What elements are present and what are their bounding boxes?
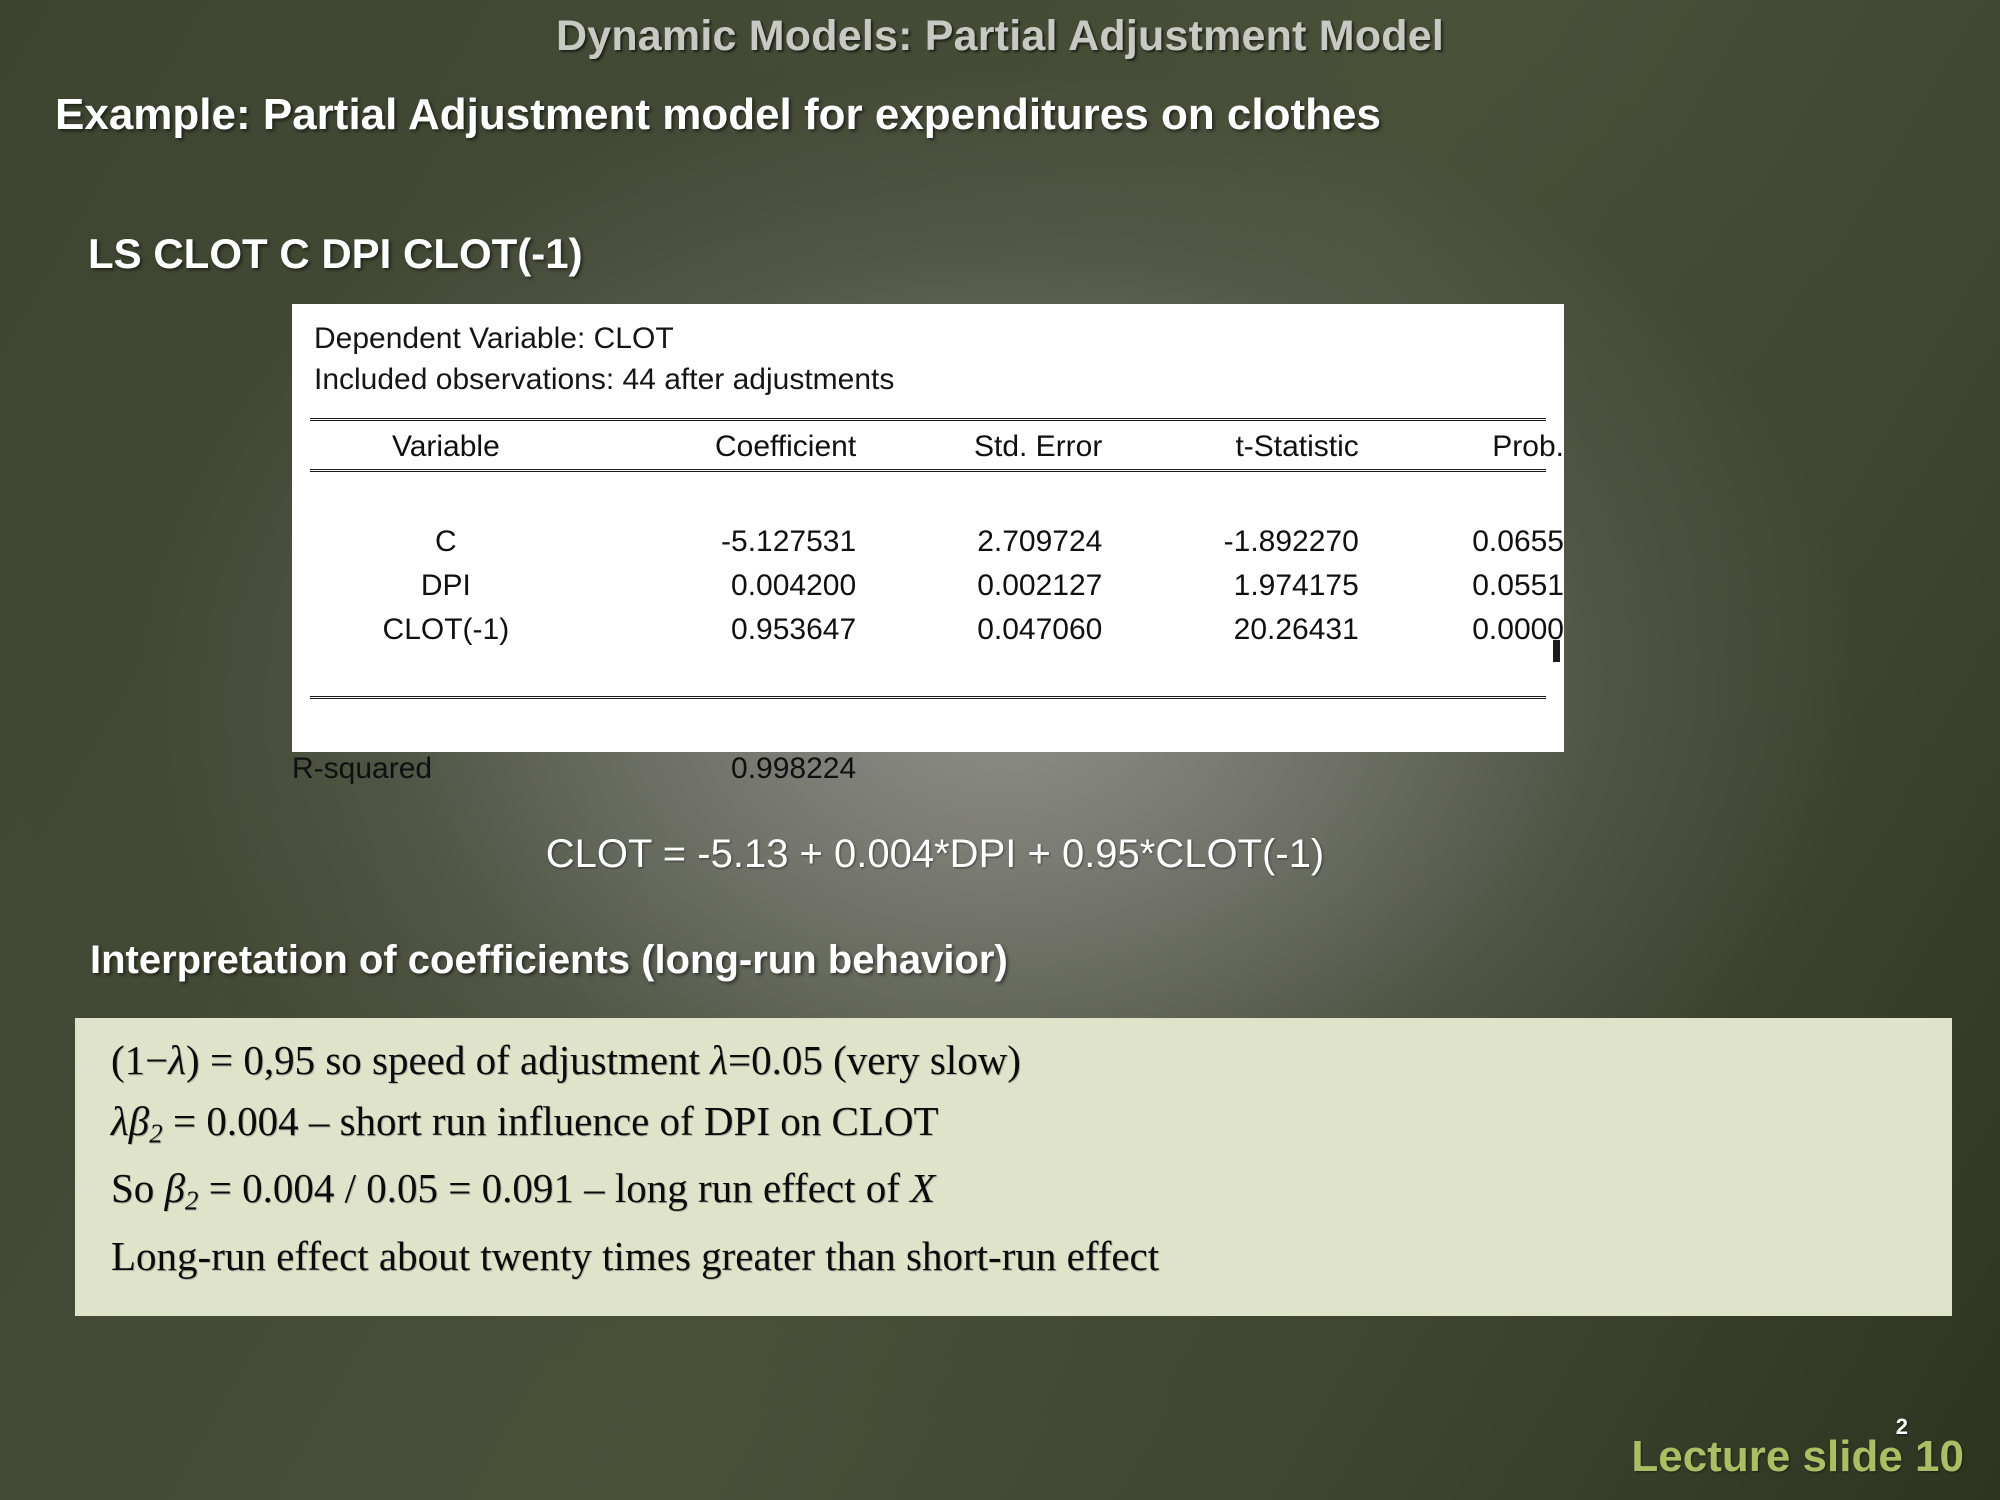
beta-subscript: 2 — [185, 1185, 199, 1215]
math-line-1-part-c: =0.05 (very slow) — [728, 1037, 1021, 1083]
beta-symbol: β — [165, 1165, 185, 1211]
cell-coefficient: 0.004200 — [600, 564, 856, 608]
table-rule-bottom — [310, 696, 1546, 703]
cell-variable: CLOT(-1) — [292, 608, 600, 652]
column-header-std-error: Std. Error — [856, 425, 1102, 469]
dependent-variable-line: Dependent Variable: CLOT — [292, 304, 1564, 359]
ls-command-text: LS CLOT C DPI CLOT(-1) — [88, 230, 583, 278]
slide-title: Dynamic Models: Partial Adjustment Model — [0, 12, 2000, 61]
cell-t-statistic: -1.892270 — [1102, 520, 1358, 564]
column-header-prob: Prob. — [1359, 425, 1564, 469]
interpretation-box: (1−λ) = 0,95 so speed of adjustment λ=0.… — [75, 1018, 1952, 1316]
table-row: C -5.127531 2.709724 -1.892270 0.0655 — [292, 520, 1564, 564]
math-line-1-part-a: (1− — [111, 1037, 168, 1083]
slide-subtitle: Example: Partial Adjustment model for ex… — [55, 90, 1945, 140]
spacer-row — [292, 652, 1564, 696]
column-header-t-statistic: t-Statistic — [1102, 425, 1358, 469]
math-line-2: λβ2 = 0.004 – short run influence of DPI… — [75, 1081, 1952, 1148]
math-line-3-text: = 0.004 / 0.05 = 0.091 – long run effect… — [199, 1165, 911, 1211]
cell-variable: DPI — [292, 564, 600, 608]
cell-prob: 0.0655 — [1359, 520, 1564, 564]
math-line-3: So β2 = 0.004 / 0.05 = 0.091 – long run … — [75, 1148, 1952, 1215]
estimated-equation: CLOT = -5.13 + 0.004*DPI + 0.95*CLOT(-1) — [0, 832, 1870, 877]
math-line-2-text: = 0.004 – short run influence of DPI on … — [163, 1098, 939, 1144]
cell-t-statistic: 1.974175 — [1102, 564, 1358, 608]
observations-line: Included observations: 44 after adjustme… — [292, 359, 1564, 400]
slide-number-badge: 2 — [1896, 1414, 1908, 1440]
statistics-table: R-squared 0.998224 — [292, 703, 1564, 791]
eviews-output-panel: Dependent Variable: CLOT Included observ… — [292, 304, 1564, 752]
math-line-1: (1−λ) = 0,95 so speed of adjustment λ=0.… — [75, 1018, 1952, 1081]
lambda-symbol: λ — [710, 1037, 728, 1083]
table-header-row: Variable Coefficient Std. Error t-Statis… — [292, 425, 1564, 469]
cell-std-error: 0.002127 — [856, 564, 1102, 608]
lambda-symbol: λ — [168, 1037, 186, 1083]
cell-prob: 0.0000 — [1359, 608, 1564, 652]
math-line-1-part-b: ) = 0,95 so speed of adjustment — [186, 1037, 710, 1083]
beta-subscript: 2 — [149, 1119, 163, 1149]
table-row: CLOT(-1) 0.953647 0.047060 20.26431 0.00… — [292, 608, 1564, 652]
regression-body: C -5.127531 2.709724 -1.892270 0.0655 DP… — [292, 476, 1564, 696]
cell-coefficient: -5.127531 — [600, 520, 856, 564]
cell-std-error: 0.047060 — [856, 608, 1102, 652]
cell-variable: C — [292, 520, 600, 564]
interpretation-heading: Interpretation of coefficients (long-run… — [90, 938, 1008, 983]
spacer-row — [292, 703, 1564, 747]
regression-table: Variable Coefficient Std. Error t-Statis… — [292, 425, 1564, 469]
x-symbol: X — [910, 1165, 935, 1211]
statistic-label: R-squared — [292, 747, 600, 791]
column-header-coefficient: Coefficient — [600, 425, 856, 469]
statistic-value: 0.998224 — [600, 747, 856, 791]
cell-coefficient: 0.953647 — [600, 608, 856, 652]
beta-symbol: β — [129, 1098, 149, 1144]
lambda-symbol: λ — [111, 1098, 129, 1144]
cell-prob: 0.0551 — [1359, 564, 1564, 608]
panel-edge-marker — [1553, 640, 1560, 662]
footer-label: Lecture slide 10 — [1631, 1432, 1964, 1482]
cell-std-error: 2.709724 — [856, 520, 1102, 564]
table-rule-under-header — [310, 469, 1546, 476]
math-line-3-prefix: So — [111, 1165, 165, 1211]
table-rule-top — [310, 418, 1546, 425]
cell-t-statistic: 20.26431 — [1102, 608, 1358, 652]
spacer-row — [292, 476, 1564, 520]
slide-canvas: Dynamic Models: Partial Adjustment Model… — [0, 0, 2000, 1500]
table-row: DPI 0.004200 0.002127 1.974175 0.0551 — [292, 564, 1564, 608]
statistic-row: R-squared 0.998224 — [292, 747, 1564, 791]
math-line-4: Long-run effect about twenty times great… — [75, 1214, 1952, 1277]
column-header-variable: Variable — [292, 425, 600, 469]
